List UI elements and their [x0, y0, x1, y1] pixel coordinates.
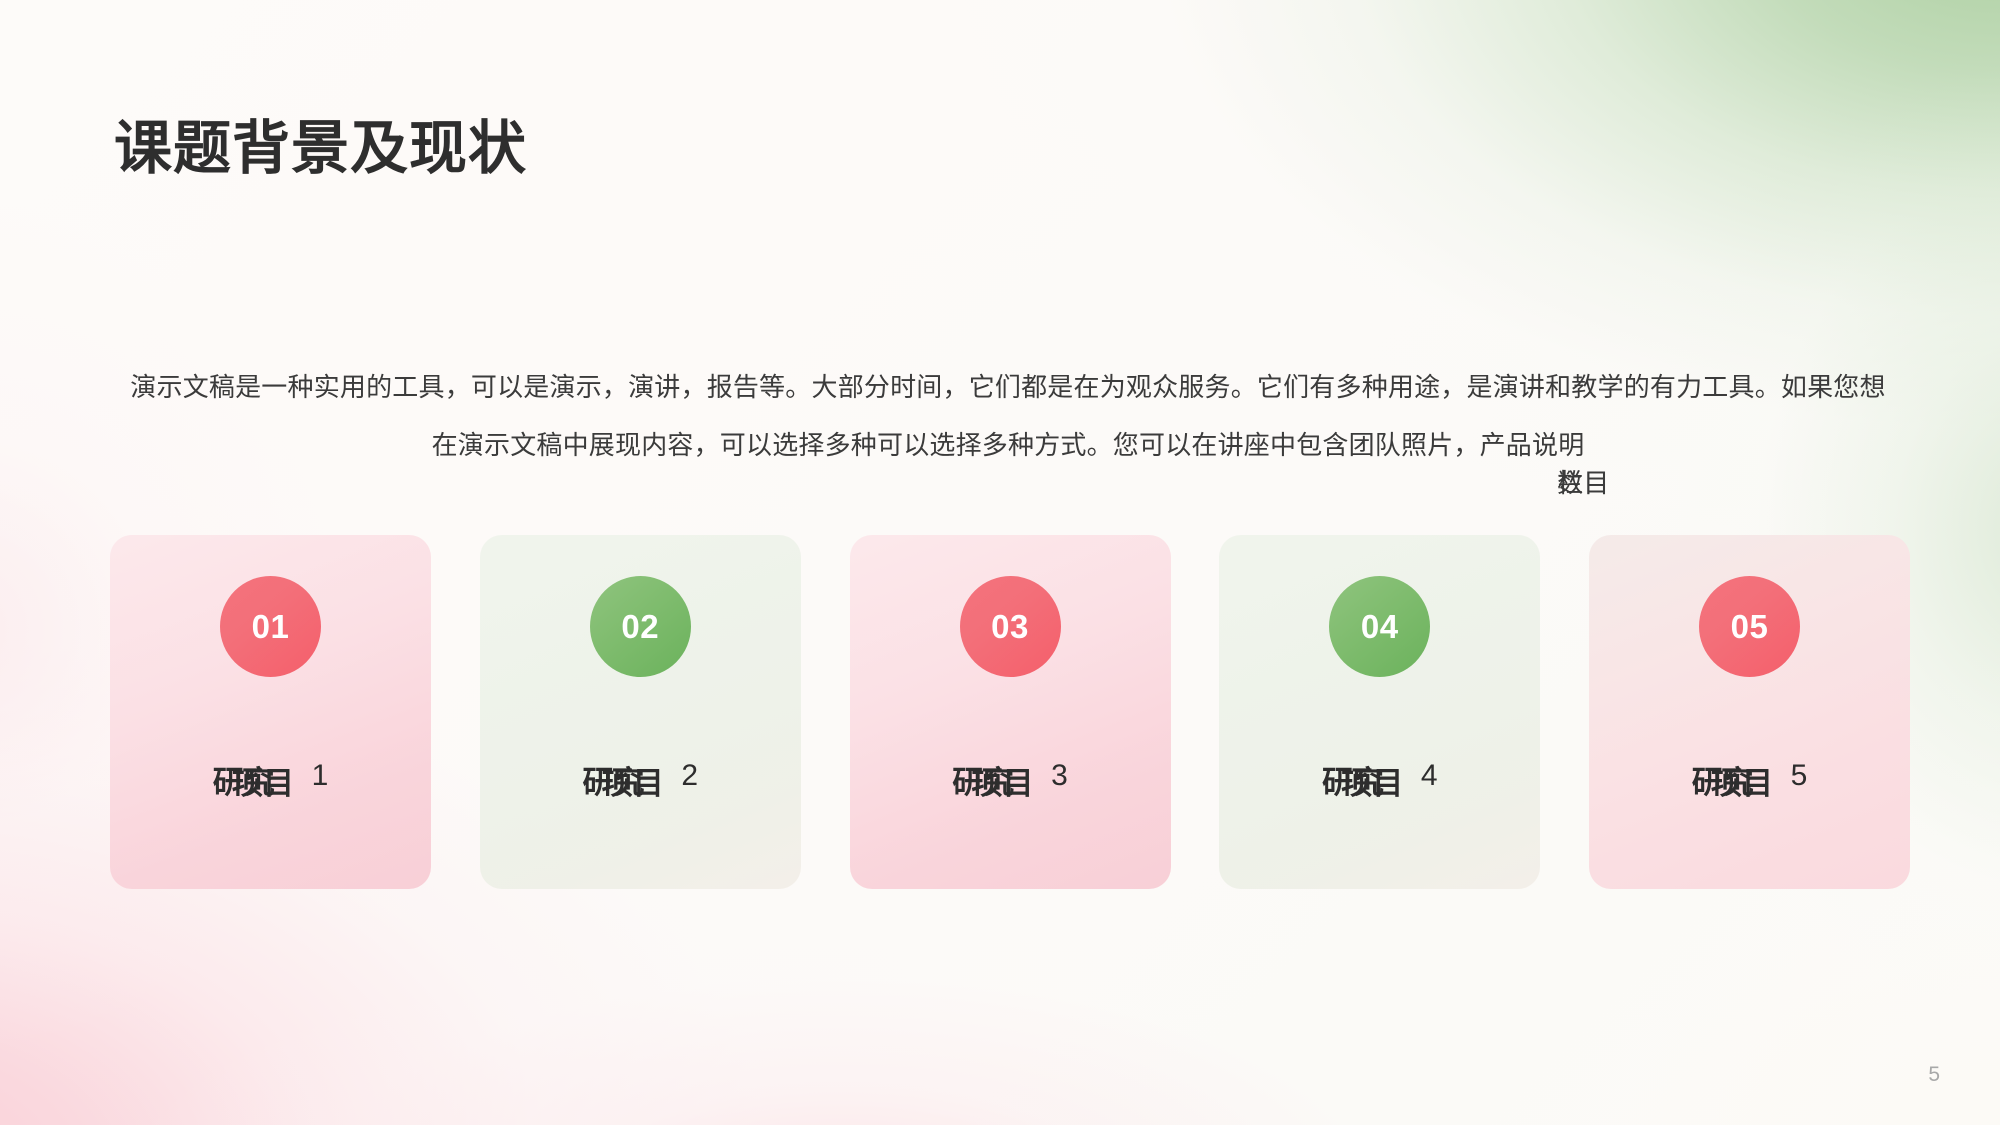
card-label-suffix-02: 2 [681, 759, 698, 793]
card-label-text-b-03: 项目 [971, 758, 1033, 803]
card-label-suffix-03: 3 [1051, 759, 1068, 793]
card-number-02: 02 [621, 608, 659, 646]
slide-page-number: 5 [1928, 1063, 1940, 1087]
card-number-01: 01 [252, 608, 290, 646]
card-number-05: 05 [1731, 608, 1769, 646]
card-number-04: 04 [1361, 608, 1399, 646]
card-label-suffix-05: 5 [1791, 759, 1808, 793]
card-label-text-b-01: 项目 [232, 758, 294, 803]
card-number-badge-02: 02 [590, 576, 691, 677]
content-card-03[interactable]: 03 研究 项目 3 [850, 535, 1171, 889]
slide-title: 课题背景及现状 [114, 115, 527, 183]
card-number-badge-05: 05 [1699, 576, 1800, 677]
card-label-stack-03: 研究 项目 [952, 757, 1015, 788]
card-label-text-b-02: 项目 [602, 758, 664, 803]
card-label-02: 研究 项目 2 [480, 757, 801, 793]
content-card-02[interactable]: 02 研究 项目 2 [480, 535, 801, 889]
card-label-stack-01: 研究 项目 [213, 757, 276, 788]
card-label-suffix-01: 1 [312, 759, 329, 793]
card-label-01: 研究 项目 1 [110, 757, 431, 793]
card-number-badge-03: 03 [960, 576, 1061, 677]
card-label-text-b-04: 项目 [1341, 758, 1403, 803]
card-number-badge-04: 04 [1329, 576, 1430, 677]
cards-row: 01 研究 项目 1 02 研究 项目 2 [110, 535, 1910, 889]
card-number-03: 03 [991, 608, 1029, 646]
paragraph-main-text: 演示文稿是一种实用的工具，可以是演示，演讲，报告等。大部分时间，它们都是在为观众… [130, 372, 1885, 460]
content-card-05[interactable]: 05 研究 项目 5 [1589, 535, 1910, 889]
card-label-suffix-04: 4 [1421, 759, 1438, 793]
paragraph-overlap-text-b: 数目 [1557, 454, 1609, 512]
card-label-05: 研究 项目 5 [1589, 757, 1910, 793]
card-label-stack-02: 研究 项目 [582, 757, 645, 788]
card-label-text-b-05: 项目 [1711, 758, 1773, 803]
card-label-stack-04: 研究 项目 [1322, 757, 1385, 788]
presentation-slide: 课题背景及现状 演示文稿是一种实用的工具，可以是演示，演讲，报告等。大部分时间，… [0, 0, 2000, 1125]
card-number-badge-01: 01 [220, 576, 321, 677]
content-card-04[interactable]: 04 研究 项目 4 [1219, 535, 1540, 889]
card-label-stack-05: 研究 项目 [1692, 757, 1755, 788]
card-label-04: 研究 项目 4 [1219, 757, 1540, 793]
body-paragraph: 演示文稿是一种实用的工具，可以是演示，演讲，报告等。大部分时间，它们都是在为观众… [128, 358, 1888, 474]
content-card-01[interactable]: 01 研究 项目 1 [110, 535, 431, 889]
card-label-03: 研究 项目 3 [850, 757, 1171, 793]
